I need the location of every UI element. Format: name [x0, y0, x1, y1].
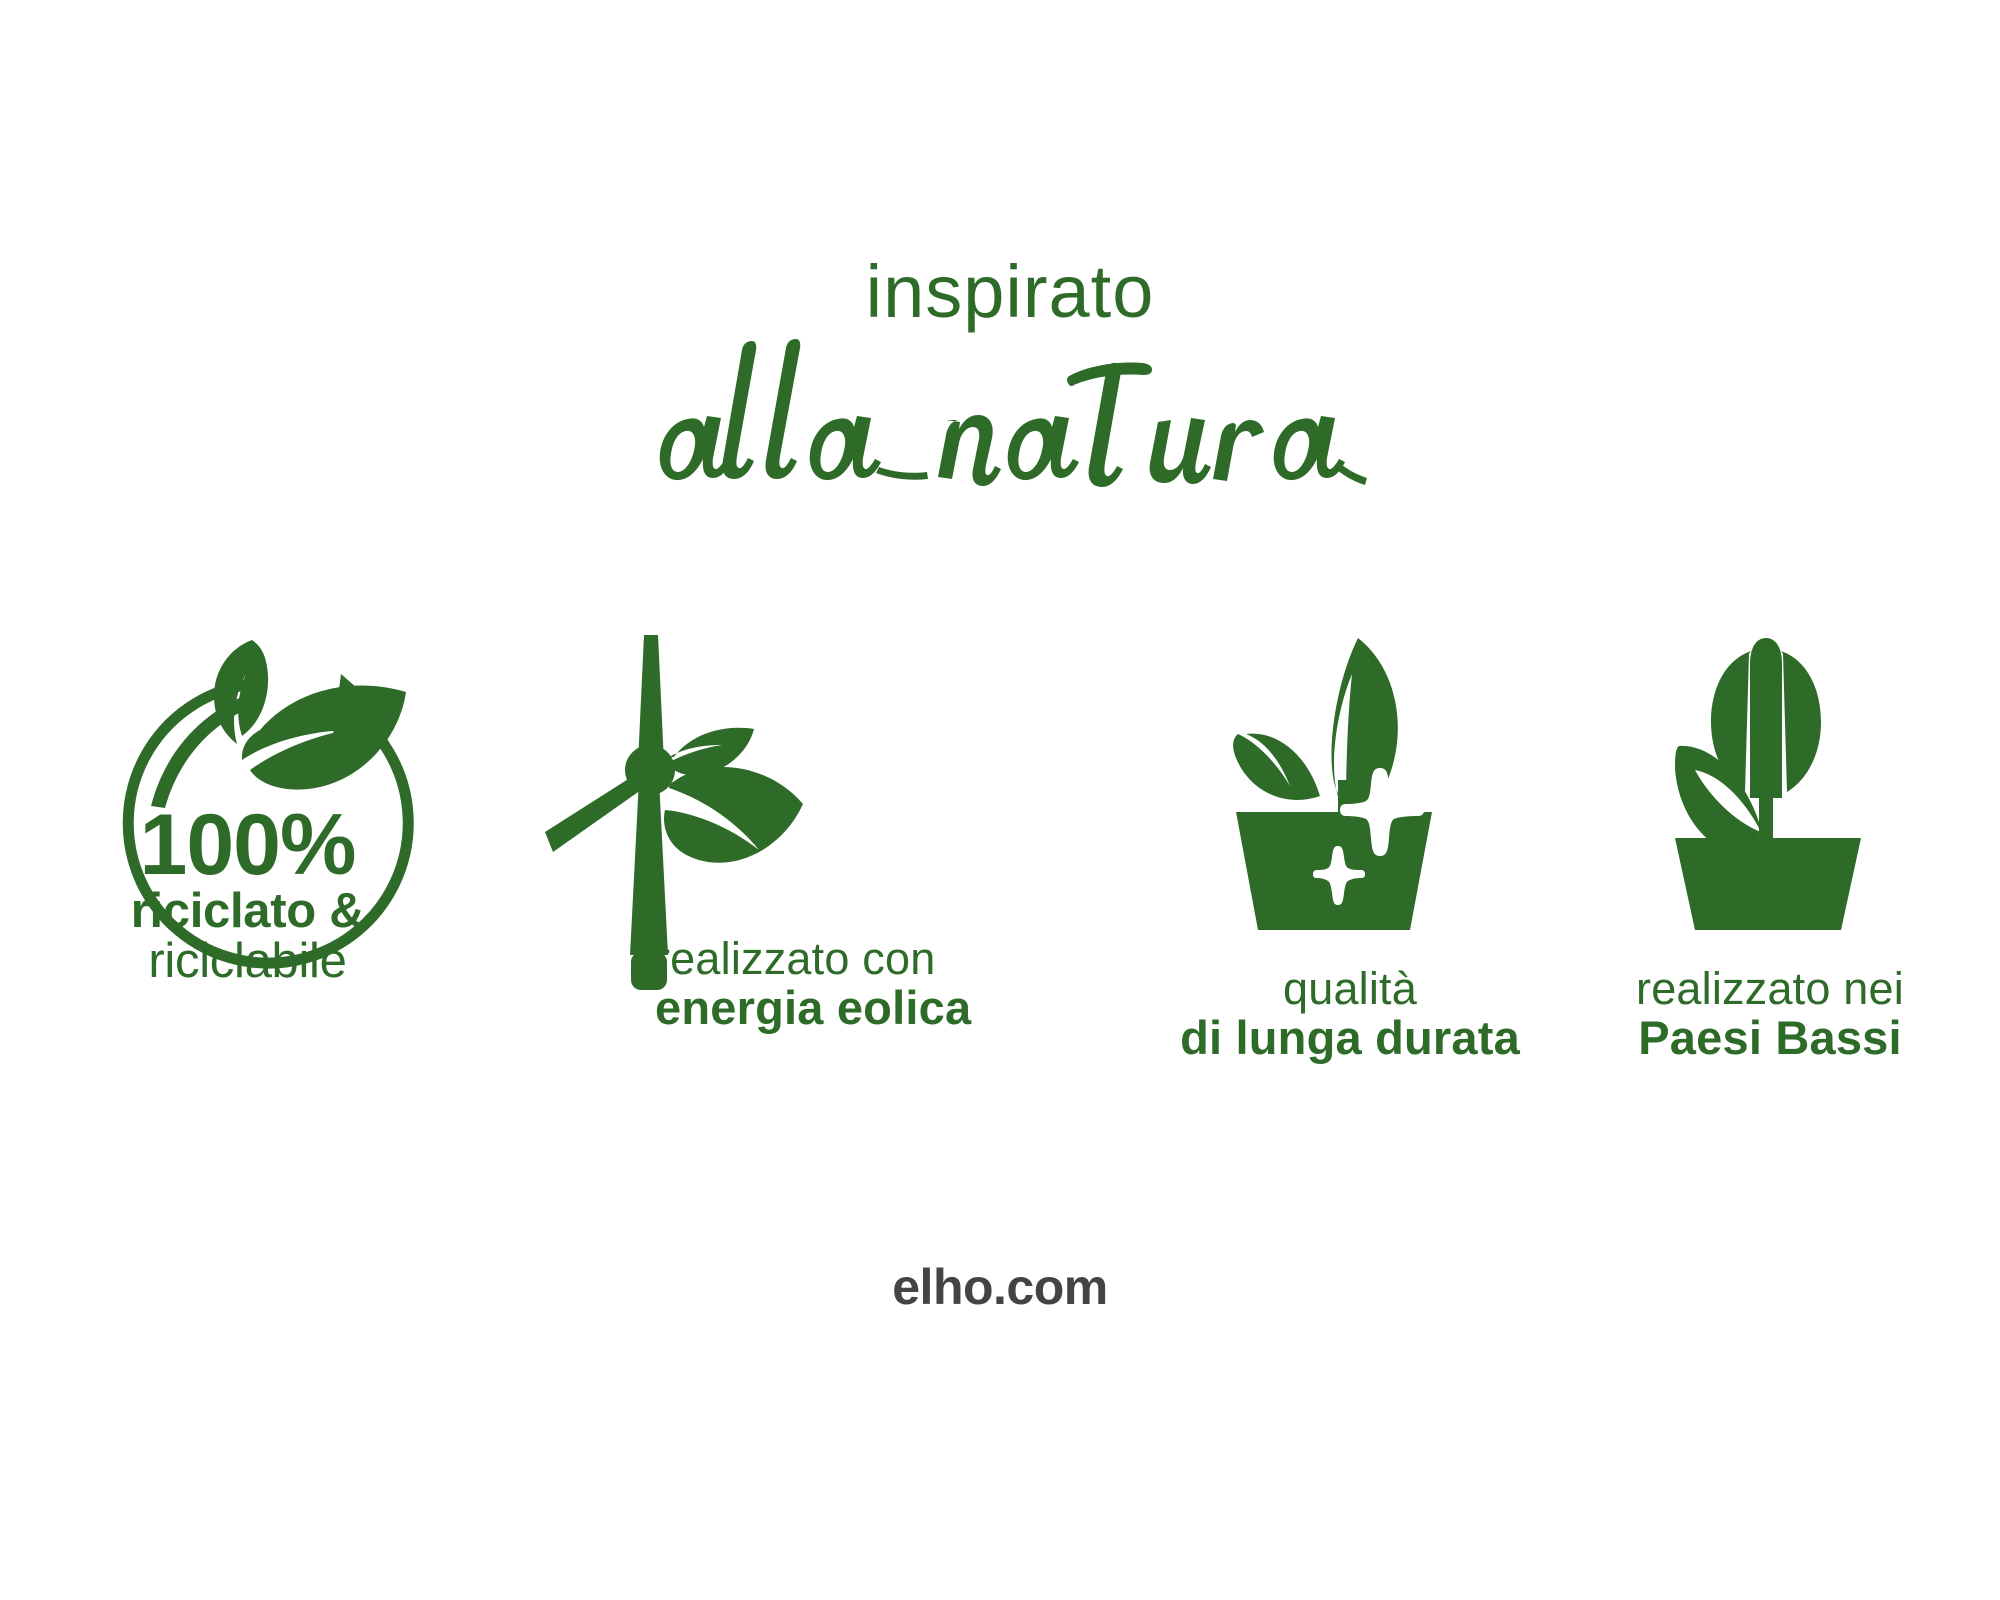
- quality-caption-bold: di lunga durata: [1150, 1013, 1550, 1063]
- quality-caption-light: qualità: [1150, 965, 1550, 1013]
- wind-caption-bold: energia eolica: [655, 983, 1055, 1033]
- poster-canvas: inspirato: [0, 0, 2000, 1600]
- feature-wind-energy: realizzato con energia eolica: [545, 630, 995, 990]
- badge-percent-value: 100%: [70, 805, 425, 887]
- dutch-caption-light: realizzato nei: [1560, 965, 1980, 1013]
- headline-block: inspirato: [0, 255, 2000, 513]
- potted-plant-sparkle-icon: [1210, 630, 1490, 930]
- feature-made-in-netherlands: realizzato nei Paesi Bassi: [1560, 630, 1980, 930]
- wind-caption: realizzato con energia eolica: [655, 935, 1055, 1033]
- dutch-caption: realizzato nei Paesi Bassi: [1560, 965, 1980, 1063]
- dutch-caption-bold: Paesi Bassi: [1560, 1013, 1980, 1063]
- badge-text-block: 100% riciclato & riciclabile: [70, 805, 425, 987]
- badge-caption-line-1: riciclato &: [70, 887, 425, 937]
- wind-caption-light: realizzato con: [655, 935, 1055, 983]
- footer: elho.com: [0, 1258, 2000, 1316]
- headline-line-2-script: [0, 323, 2000, 513]
- quality-caption: qualità di lunga durata: [1150, 965, 1550, 1063]
- alla-natura-script-art: [630, 323, 1370, 513]
- badge-caption-line-2: riciclabile: [70, 937, 425, 987]
- feature-recycled-badge: 100% riciclato & riciclabile: [70, 630, 500, 1000]
- elho-website-link[interactable]: elho.com: [892, 1259, 1107, 1315]
- feature-row: 100% riciclato & riciclabile: [0, 630, 2000, 1110]
- headline-line-1: inspirato: [20, 255, 2000, 329]
- potted-tulip-icon: [1645, 630, 1895, 930]
- feature-long-lasting-quality: qualità di lunga durata: [1150, 630, 1550, 930]
